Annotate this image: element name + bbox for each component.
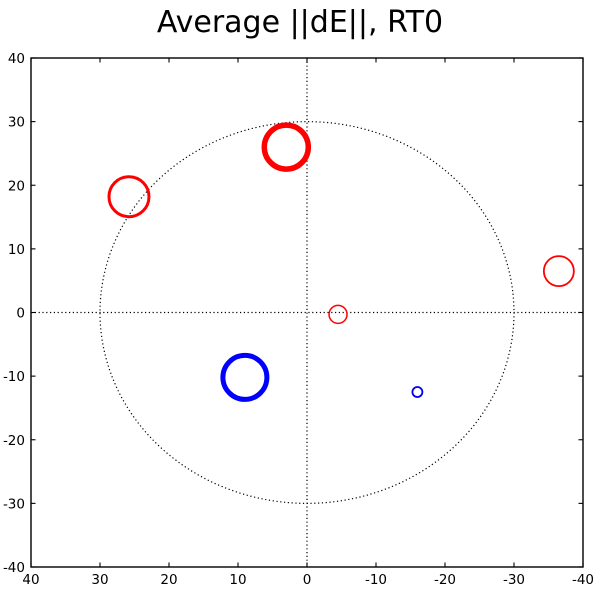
x-tick-label-4: 0 bbox=[303, 572, 312, 588]
plot-area: 403020100-10-20-30-40-40-30-20-100102030… bbox=[0, 0, 600, 600]
data-marker-blue-large bbox=[223, 355, 267, 399]
y-tick-label-0: -40 bbox=[3, 560, 25, 576]
x-tick-label-6: -20 bbox=[434, 572, 456, 588]
data-marker-red-large-top bbox=[264, 125, 308, 169]
y-tick-label-3: -10 bbox=[3, 369, 25, 385]
x-tick-label-3: 10 bbox=[229, 572, 246, 588]
x-tick-label-8: -40 bbox=[572, 572, 594, 588]
y-tick-label-2: -20 bbox=[3, 433, 25, 449]
y-tick-label-6: 20 bbox=[8, 178, 25, 194]
data-marker-red-upper-left bbox=[109, 177, 149, 217]
y-tick-label-7: 30 bbox=[8, 115, 25, 131]
x-tick-label-5: -10 bbox=[365, 572, 387, 588]
x-tick-label-2: 20 bbox=[160, 572, 177, 588]
data-marker-red-near-origin bbox=[329, 305, 347, 323]
data-marker-red-right bbox=[544, 256, 574, 286]
figure-canvas: Average ||dE||, RT0 403020100-10-20-30-4… bbox=[0, 0, 600, 600]
y-tick-label-8: 40 bbox=[8, 51, 25, 67]
data-marker-blue-small bbox=[412, 387, 422, 397]
x-tick-label-7: -30 bbox=[503, 572, 525, 588]
y-tick-label-4: 0 bbox=[16, 306, 25, 322]
x-tick-label-1: 30 bbox=[91, 572, 108, 588]
y-tick-label-5: 10 bbox=[8, 242, 25, 258]
y-tick-label-1: -30 bbox=[3, 496, 25, 512]
